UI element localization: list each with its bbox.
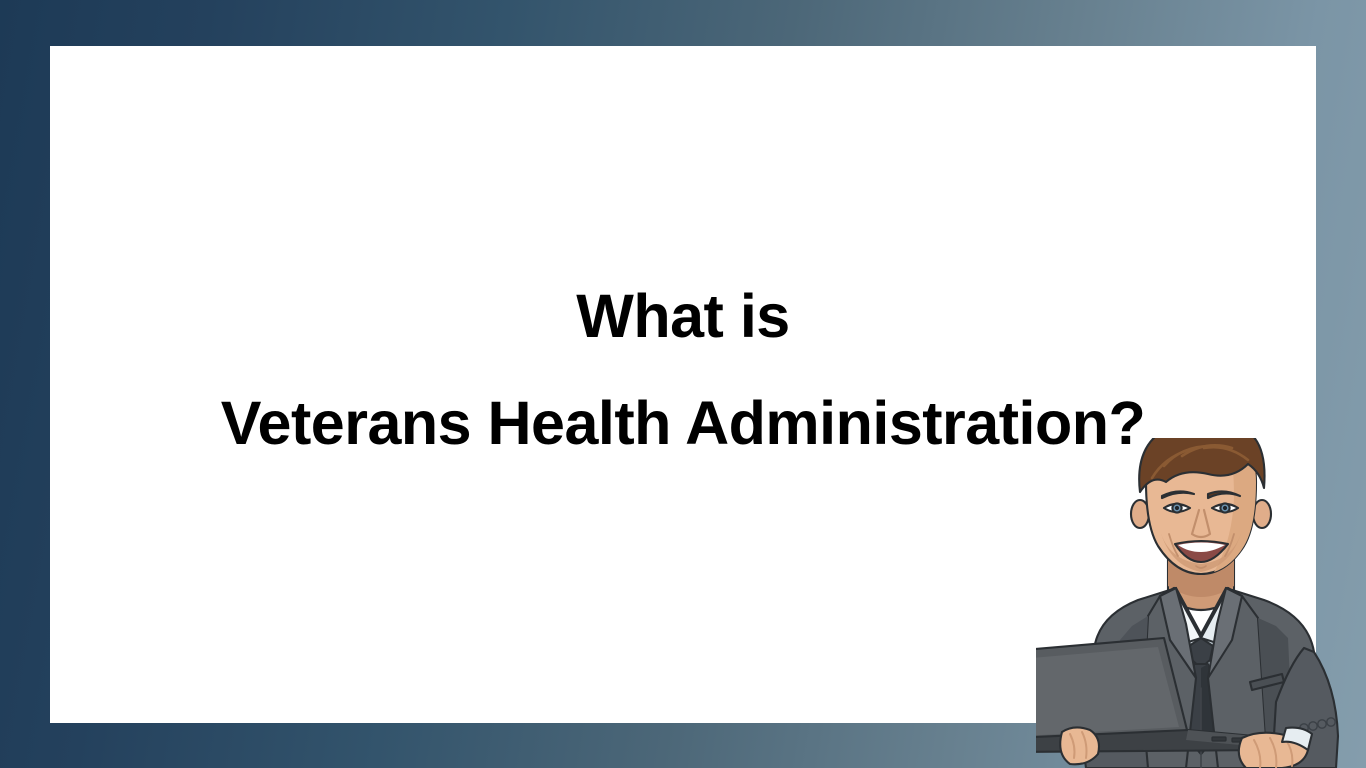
page-title: What is Veterans Health Administration? — [50, 286, 1316, 454]
title-line-1: What is — [50, 286, 1316, 347]
slide-content-panel: What is Veterans Health Administration? — [50, 46, 1316, 723]
presentation-slide: What is Veterans Health Administration? — [0, 0, 1366, 768]
title-line-2: Veterans Health Administration? — [50, 393, 1316, 454]
